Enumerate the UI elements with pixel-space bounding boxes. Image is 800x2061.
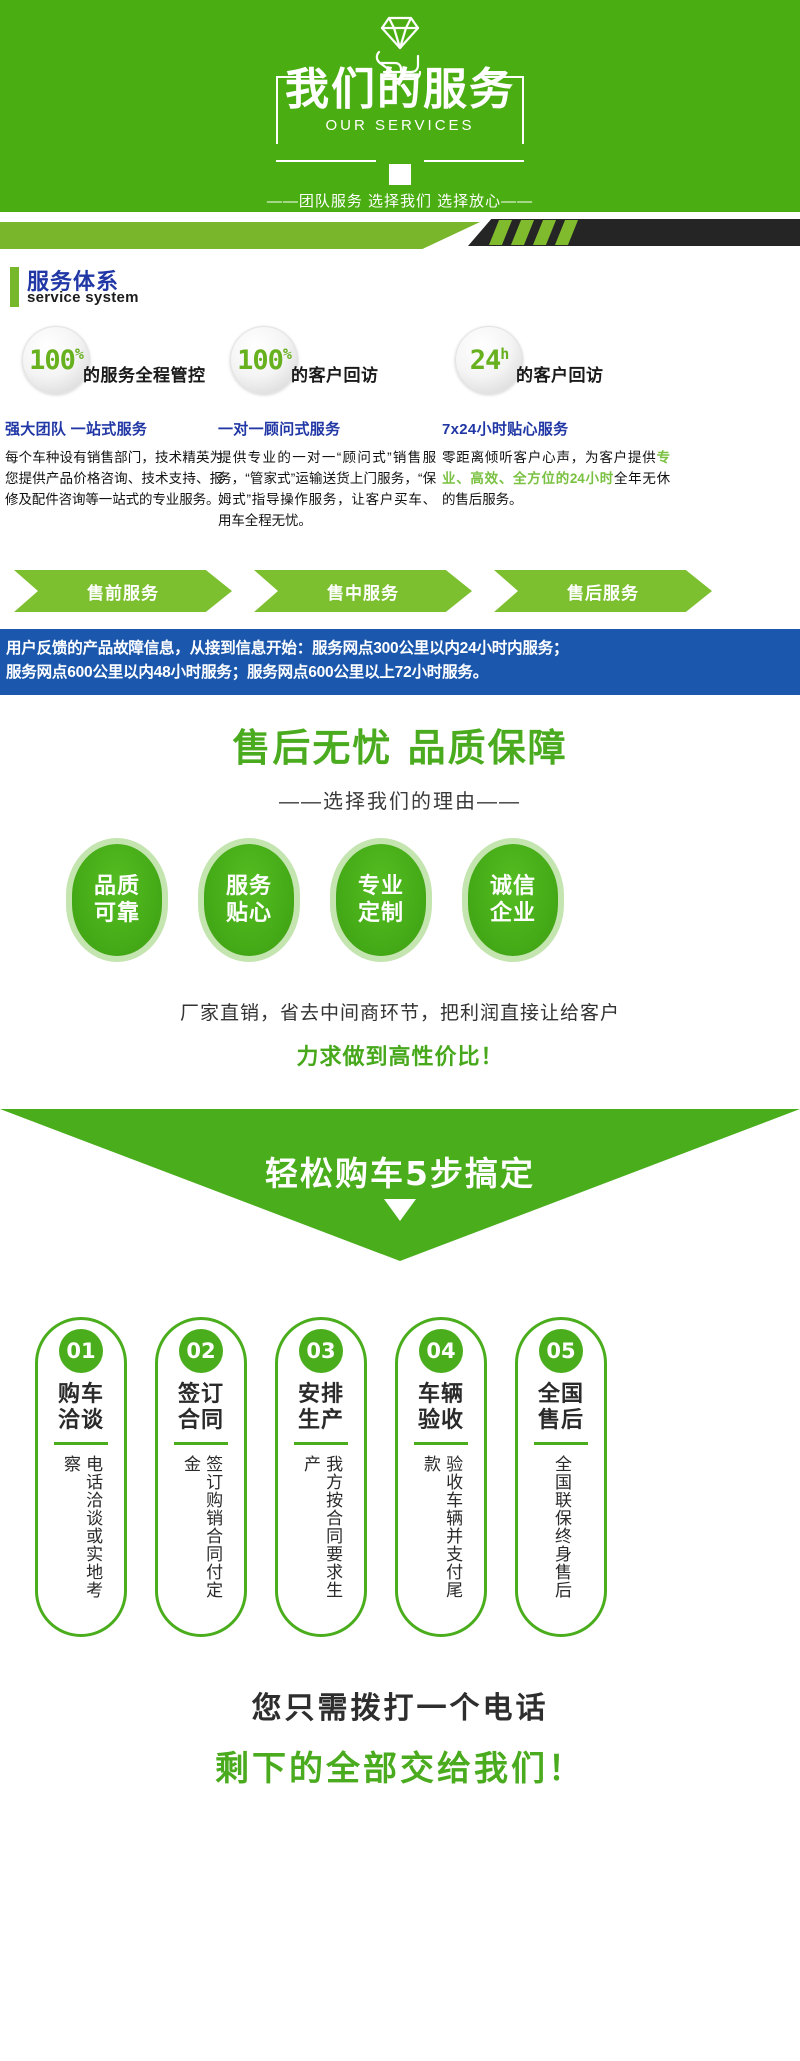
step-divider — [294, 1442, 348, 1445]
oval-service: 服务 贴心 — [204, 844, 294, 956]
purchase-steps: 01 购车洽谈 电话洽谈或实地考察 02 签订合同 签订购销合同付定金 03 安… — [0, 1317, 800, 1637]
oval-line-2: 定制 — [358, 900, 404, 927]
step-divider — [54, 1442, 108, 1445]
feature-heading: 强大团队 一站式服务 — [5, 418, 223, 439]
policy-line-2: 服务网点600公里以内48小时服务；服务网点600公里以上72小时服务。 — [6, 661, 794, 685]
hero-subtitle: OUR SERVICES — [325, 117, 474, 134]
step-number: 02 — [179, 1329, 223, 1373]
section-title-en: service system — [27, 289, 139, 306]
policy-line-1: 用户反馈的产品故障信息，从接到信息开始：服务网点300公里以内24小时内服务； — [6, 637, 794, 661]
headline-main: 售后无忧 品质保障 — [0, 729, 800, 767]
badge-label: 的客户回访 — [516, 335, 604, 386]
feature-column-1: 强大团队 一站式服务 每个车种设有销售部门，技术精英为您提供产品价格咨询、技术支… — [5, 418, 223, 511]
footer-line-2: 剩下的全部交给我们！ — [0, 1741, 800, 1790]
step-title: 车辆验收 — [418, 1381, 464, 1433]
step-number: 03 — [299, 1329, 343, 1373]
oval-line-1: 品质 — [94, 873, 140, 900]
step-description: 我方按合同要求生产 — [299, 1455, 343, 1615]
oval-integrity: 诚信 企业 — [468, 844, 558, 956]
feature-body: 每个车种设有销售部门，技术精英为您提供产品价格咨询、技术支持、报修及配件咨询等一… — [5, 448, 223, 511]
factory-direct-sales: 厂家直销，省去中间商环节，把利润直接让给客户 力求做到高性价比！ — [0, 998, 800, 1071]
oval-line-1: 诚信 — [490, 873, 536, 900]
factory-line-2: 力求做到高性价比！ — [0, 1039, 800, 1071]
ribbon-green-bar — [0, 222, 480, 249]
section-accent-bar — [10, 267, 19, 307]
oval-line-2: 可靠 — [94, 900, 140, 927]
chevron-pre-sale[interactable]: 售前服务 — [14, 570, 232, 612]
headline-sub: ——选择我们的理由—— — [0, 785, 800, 814]
step-divider — [174, 1442, 228, 1445]
step-description: 签订购销合同付定金 — [179, 1455, 223, 1615]
badge-row: 100% 的服务全程管控 100% 的客户回访 24h 的客户回访 — [0, 326, 800, 404]
badge-item-2: 100% 的客户回访 — [230, 326, 379, 394]
step-item-03[interactable]: 03 安排生产 我方按合同要求生产 — [275, 1317, 367, 1637]
diagonal-ribbon — [0, 219, 800, 255]
step-number: 04 — [419, 1329, 463, 1373]
step-description: 全国联保终身售后 — [550, 1455, 572, 1615]
oval-line-2: 贴心 — [226, 900, 272, 927]
hero-tagline: ——团队服务 选择我们 选择放心—— — [267, 190, 533, 211]
triangle-text: 轻松购车5步搞定 — [0, 1147, 800, 1195]
service-phase-chevrons: 售前服务 售中服务 售后服务 — [0, 570, 800, 612]
step-number: 01 — [59, 1329, 103, 1373]
oval-line-2: 企业 — [490, 900, 536, 927]
step-description: 电话洽谈或实地考察 — [59, 1455, 103, 1615]
feature-heading: 一对一顾问式服务 — [218, 418, 436, 439]
step-divider — [414, 1442, 468, 1445]
step-number: 05 — [539, 1329, 583, 1373]
feature-column-2: 一对一顾问式服务 提供专业的一对一“顾问式”销售服务，“管家式”运输送货上门服务… — [218, 418, 436, 532]
badge-disc: 100% — [230, 326, 298, 394]
hero-notch — [389, 164, 411, 185]
feature-heading: 7x24小时贴心服务 — [442, 418, 670, 439]
chevron-after-sale[interactable]: 售后服务 — [494, 570, 712, 612]
reason-ovals: 品质 可靠 服务 贴心 专业 定制 诚信 企业 — [0, 844, 800, 956]
badge-label: 的客户回访 — [291, 335, 379, 386]
step-title: 购车洽谈 — [58, 1381, 104, 1433]
step-title: 签订合同 — [178, 1381, 224, 1433]
oval-line-1: 服务 — [226, 873, 272, 900]
badge-item-3: 24h 的客户回访 — [455, 326, 604, 394]
step-description: 验收车辆并支付尾款 — [419, 1455, 463, 1615]
badge-value: 100% — [237, 347, 291, 374]
factory-line-1: 厂家直销，省去中间商环节，把利润直接让给客户 — [0, 998, 800, 1025]
feature-columns: 强大团队 一站式服务 每个车种设有销售部门，技术精英为您提供产品价格咨询、技术支… — [0, 418, 800, 548]
badge-label: 的服务全程管控 — [83, 335, 206, 386]
badge-disc: 24h — [455, 326, 523, 394]
step-item-05[interactable]: 05 全国售后 全国联保终身售后 — [515, 1317, 607, 1637]
step-divider — [534, 1442, 588, 1445]
step-title: 安排生产 — [298, 1381, 344, 1433]
step-item-04[interactable]: 04 车辆验收 验收车辆并支付尾款 — [395, 1317, 487, 1637]
feature-body: 提供专业的一对一“顾问式”销售服务，“管家式”运输送货上门服务，“保姆式”指导操… — [218, 448, 436, 532]
oval-quality: 品质 可靠 — [72, 844, 162, 956]
service-policy-bar: 用户反馈的产品故障信息，从接到信息开始：服务网点300公里以内24小时内服务； … — [0, 629, 800, 695]
triangle-down-icon — [384, 1199, 416, 1221]
five-step-banner: 轻松购车5步搞定 — [0, 1109, 800, 1261]
oval-custom: 专业 定制 — [336, 844, 426, 956]
section-title-service-system: 服务体系 service system — [10, 266, 800, 310]
hero-banner: 我们的服务 OUR SERVICES ——团队服务 选择我们 选择放心—— — [0, 0, 800, 212]
step-item-01[interactable]: 01 购车洽谈 电话洽谈或实地考察 — [35, 1317, 127, 1637]
headline-after-sales: 售后无忧 品质保障 ——选择我们的理由—— — [0, 729, 800, 814]
badge-value: 100% — [29, 347, 83, 374]
step-title: 全国售后 — [538, 1381, 584, 1433]
badge-disc: 100% — [22, 326, 90, 394]
oval-line-1: 专业 — [358, 873, 404, 900]
step-item-02[interactable]: 02 签订合同 签订购销合同付定金 — [155, 1317, 247, 1637]
badge-item-1: 100% 的服务全程管控 — [22, 326, 206, 394]
hero-title: 我们的服务 — [285, 68, 515, 112]
feature-body: 零距离倾听客户心声，为客户提供专业、高效、全方位的24小时全年无休的售后服务。 — [442, 448, 670, 511]
feature-column-3: 7x24小时贴心服务 零距离倾听客户心声，为客户提供专业、高效、全方位的24小时… — [442, 418, 670, 511]
footer-call-to-action: 您只需拨打一个电话 剩下的全部交给我们！ — [0, 1683, 800, 1790]
footer-line-1: 您只需拨打一个电话 — [0, 1683, 800, 1727]
chevron-in-sale[interactable]: 售中服务 — [254, 570, 472, 612]
badge-value: 24h — [470, 347, 509, 374]
